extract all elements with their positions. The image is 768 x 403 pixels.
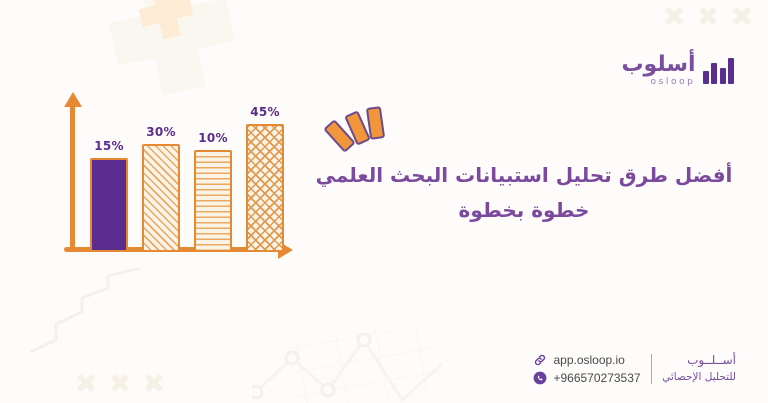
x-cross-icon	[112, 375, 128, 391]
link-icon	[533, 353, 547, 367]
bar-1-solid	[90, 158, 128, 252]
x-marks-top-right	[666, 8, 750, 24]
footer-divider	[651, 354, 653, 384]
x-marks-bottom-left	[78, 375, 162, 391]
x-cross-icon	[78, 375, 94, 391]
whatsapp-icon	[533, 371, 547, 385]
bar-3-horizontal-hatch	[194, 150, 232, 252]
brand-logo-text: أسلوب osloop	[621, 54, 695, 87]
x-cross-icon	[734, 8, 750, 24]
footer-website-row[interactable]: app.osloop.io	[533, 353, 640, 367]
chart-bar-group-2: 30%	[142, 125, 180, 252]
brand-name-latin: osloop	[650, 78, 695, 87]
chart-bar-group-1: 15%	[90, 139, 128, 252]
plus-cross-orange-icon	[134, 0, 197, 44]
line-chart-watermark-icon	[252, 330, 452, 403]
headline-line-1: أفضل طرق تحليل استبيانات البحث العلمي	[316, 163, 733, 187]
bar-value-label: 45%	[250, 105, 280, 119]
headline-line-2: خطوة بخطوة	[314, 193, 734, 228]
sparkle-burst-icon	[330, 104, 394, 154]
bar-value-label: 15%	[94, 139, 124, 153]
zigzag-steps-icon	[28, 268, 158, 354]
banner-canvas: 15% 30% 10% 45% أسلوب osloop	[0, 0, 768, 403]
plus-cross-icon	[101, 0, 243, 103]
chart-bar-group-4: 45%	[246, 105, 284, 252]
footer-brand: أســلــوب للتحليل الإحصائي	[662, 352, 736, 385]
y-axis-arrow-icon	[64, 92, 82, 107]
brand-logo: أسلوب osloop	[621, 54, 734, 87]
footer-brand-line-1: أســلــوب	[687, 352, 736, 369]
bar-chart: 15% 30% 10% 45%	[56, 96, 296, 260]
brand-name-arabic: أسلوب	[621, 54, 695, 76]
bar-chart-icon	[703, 58, 735, 84]
chart-bars: 15% 30% 10% 45%	[90, 102, 290, 252]
x-cross-icon	[666, 8, 682, 24]
footer-contact: app.osloop.io +966570273537	[533, 353, 640, 385]
page-title: أفضل طرق تحليل استبيانات البحث العلمي خط…	[314, 158, 734, 228]
bar-2-diagonal-hatch	[142, 144, 180, 252]
chart-bar-group-3: 10%	[194, 131, 232, 252]
x-cross-icon	[700, 8, 716, 24]
footer-phone-row[interactable]: +966570273537	[533, 371, 640, 385]
bar-value-label: 10%	[198, 131, 228, 145]
bar-value-label: 30%	[146, 125, 176, 139]
chart-y-axis	[70, 102, 75, 252]
footer-phone-text: +966570273537	[553, 371, 640, 385]
footer-bar: أســلــوب للتحليل الإحصائي app.osloop.io	[533, 352, 736, 385]
footer-brand-line-2: للتحليل الإحصائي	[662, 370, 736, 385]
grid-watermark-icon	[280, 330, 450, 403]
footer-website-text: app.osloop.io	[553, 353, 624, 367]
bar-4-cross-hatch	[246, 124, 284, 252]
x-cross-icon	[146, 375, 162, 391]
